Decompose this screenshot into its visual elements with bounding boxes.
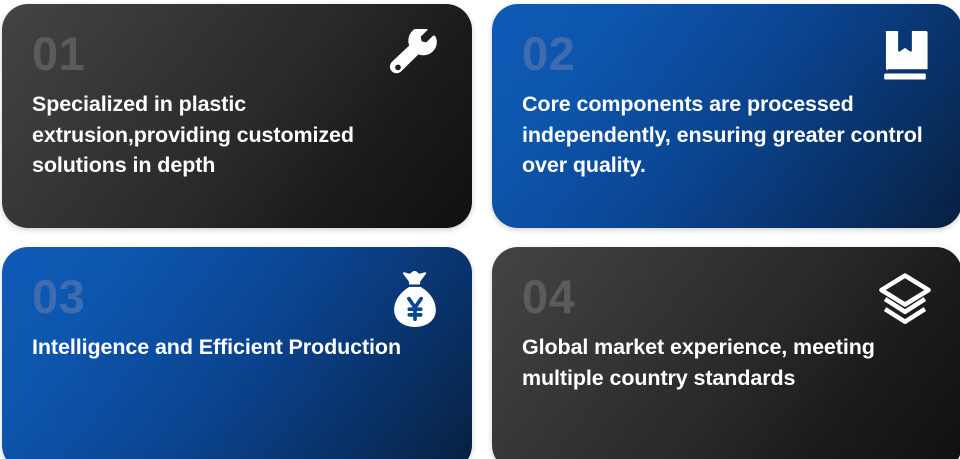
card-number: 04 bbox=[522, 273, 932, 320]
feature-card-01[interactable]: 01 Specialized in plastic extrusion,prov… bbox=[2, 4, 472, 228]
card-number: 02 bbox=[522, 30, 932, 77]
feature-card-02[interactable]: 02 Core components are processed indepen… bbox=[492, 4, 960, 228]
card-text: Core components are processed independen… bbox=[522, 89, 932, 181]
feature-card-03[interactable]: 03 Intelligence and Efficient Production bbox=[2, 247, 472, 459]
card-number: 03 bbox=[32, 273, 442, 320]
card-text: Specialized in plastic extrusion,providi… bbox=[32, 89, 442, 181]
feature-card-04[interactable]: 04 Global market experience, meeting mul… bbox=[492, 247, 960, 459]
card-text: Intelligence and Efficient Production bbox=[32, 332, 442, 363]
card-number: 01 bbox=[32, 30, 442, 77]
feature-card-grid: 01 Specialized in plastic extrusion,prov… bbox=[0, 0, 960, 459]
card-text: Global market experience, meeting multip… bbox=[522, 332, 932, 393]
